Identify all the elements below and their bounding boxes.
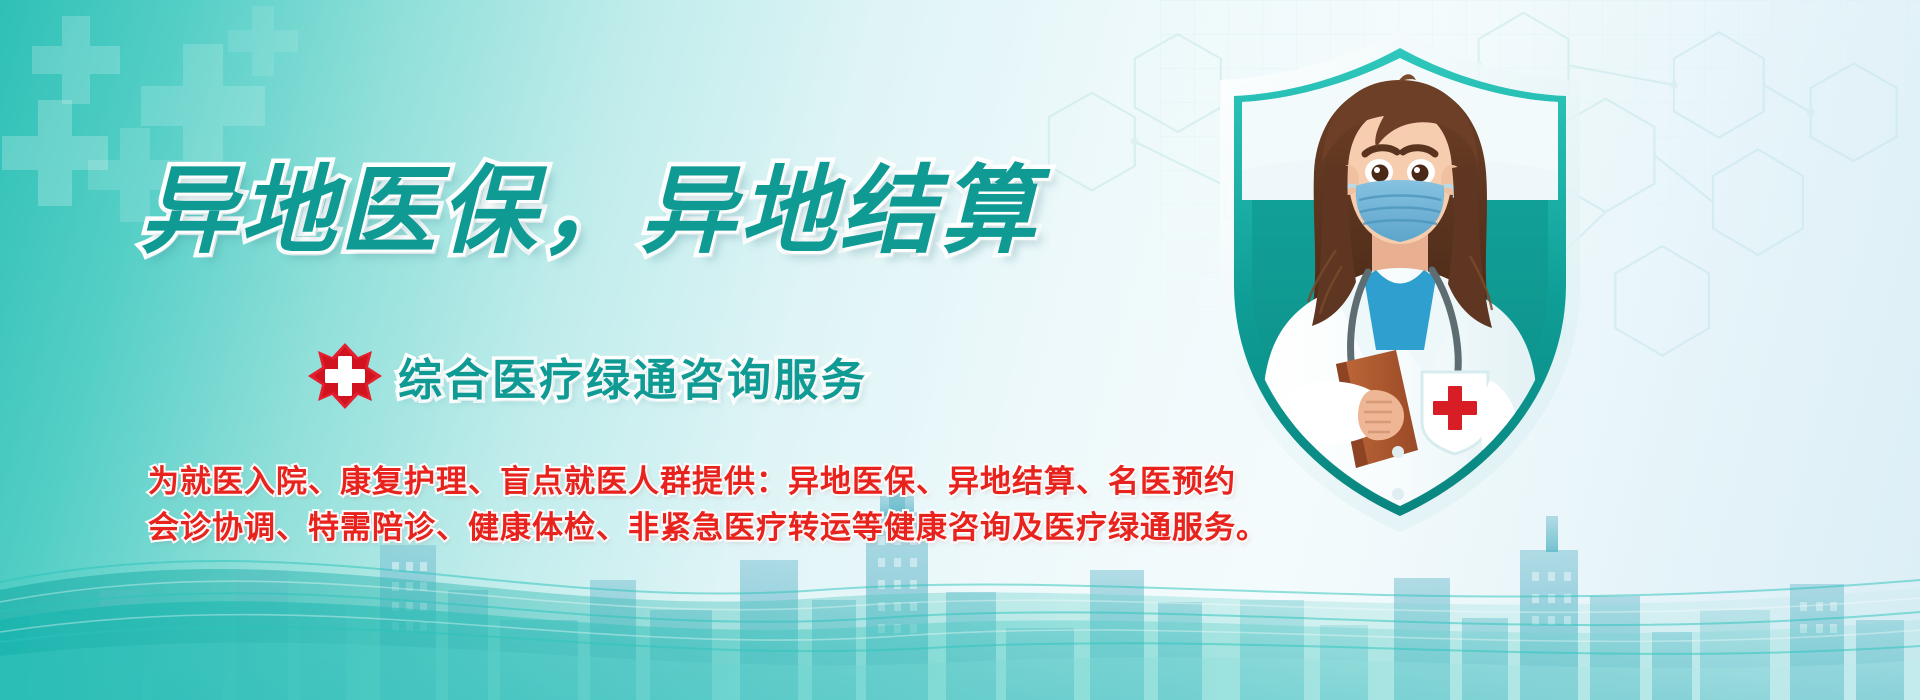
description-line-2: 会诊协调、特需陪诊、健康体检、非紧急医疗转运等健康咨询及医疗绿通服务。 xyxy=(148,505,1108,551)
subtitle-row: 综合医疗绿通咨询服务 xyxy=(306,341,868,411)
medical-banner: 异地医保，异地结算 综合医疗绿通咨询服务 为就医入院、康复护理、盲点就医人群提供… xyxy=(0,0,1920,700)
description-line-1: 为就医入院、康复护理、盲点就医人群提供：异地医保、异地结算、名医预约 xyxy=(148,459,1108,505)
page-subtitle: 综合医疗绿通咨询服务 xyxy=(398,344,868,408)
service-description: 为就医入院、康复护理、盲点就医人群提供：异地医保、异地结算、名医预约 会诊协调、… xyxy=(148,459,1108,551)
page-title: 异地医保，异地结算 xyxy=(140,163,1040,261)
red-cross-badge-icon xyxy=(306,341,384,411)
banner-copy: 异地医保，异地结算 综合医疗绿通咨询服务 为就医入院、康复护理、盲点就医人群提供… xyxy=(0,0,1160,700)
